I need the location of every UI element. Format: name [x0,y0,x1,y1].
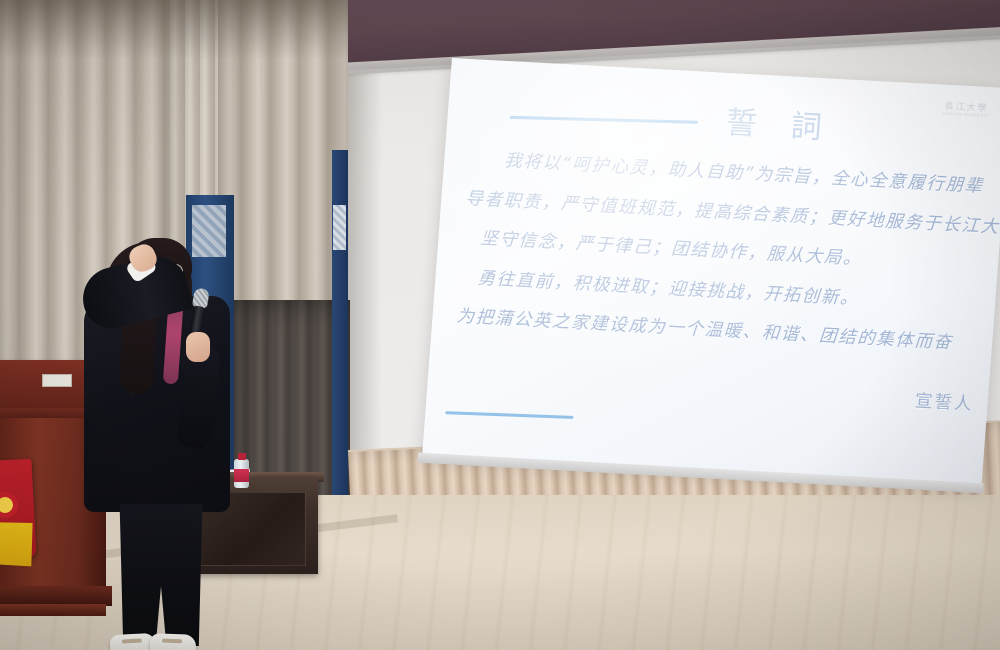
shoe-lace-right [162,639,182,644]
speaker [78,236,248,650]
oath-line-3: 坚守信念，严于律己；团结协作，服从大局。 [462,230,1000,277]
photo-scene: 長江大學 YANGTZE UNIVERSITY 誓 詞 我将以“呵护心灵，助人自… [0,0,1000,650]
shoe-right [150,633,197,650]
slide-title: 誓 詞 [659,93,902,151]
slide-accent-line-bottom [445,411,573,419]
slide-body: 我将以“呵护心灵，助人自助”为宗旨，全心全意履行朋辈 导者职责，严守值班规范，提… [451,151,1000,416]
university-logo: 長江大學 YANGTZE UNIVERSITY [943,99,991,118]
oath-line-2: 导者职责，严守值班规范，提高综合素质；更好地服务于长江大 [465,190,1000,237]
wall-shadow [348,0,382,520]
oath-line-4: 勇往直前，积极进取；迎接挑战，开拓创新。 [459,269,1000,316]
black-trousers [116,504,206,646]
projection-screen: 長江大學 YANGTZE UNIVERSITY 誓 詞 我将以“呵护心灵，助人自… [421,58,1000,507]
gold-banner-trim [0,518,36,570]
oath-line-5: 为把蒲公英之家建设成为一个温暖、和谐、团结的集体而奋 [456,309,997,356]
curtain-top-shadow [0,0,348,60]
oath-signature-label: 宣誓人 [451,362,992,416]
hand-holding-microphone [186,332,210,362]
podium-name-plate [42,374,72,387]
blue-door-frame [332,150,348,495]
door-frame-glass [333,205,346,250]
oath-line-1: 我将以“呵护心灵，助人自助”为宗旨，全心全意履行朋辈 [468,151,1000,198]
shoe-lace-left [122,639,142,644]
slide-surface: 長江大學 YANGTZE UNIVERSITY 誓 詞 我将以“呵护心灵，助人自… [422,58,1000,485]
